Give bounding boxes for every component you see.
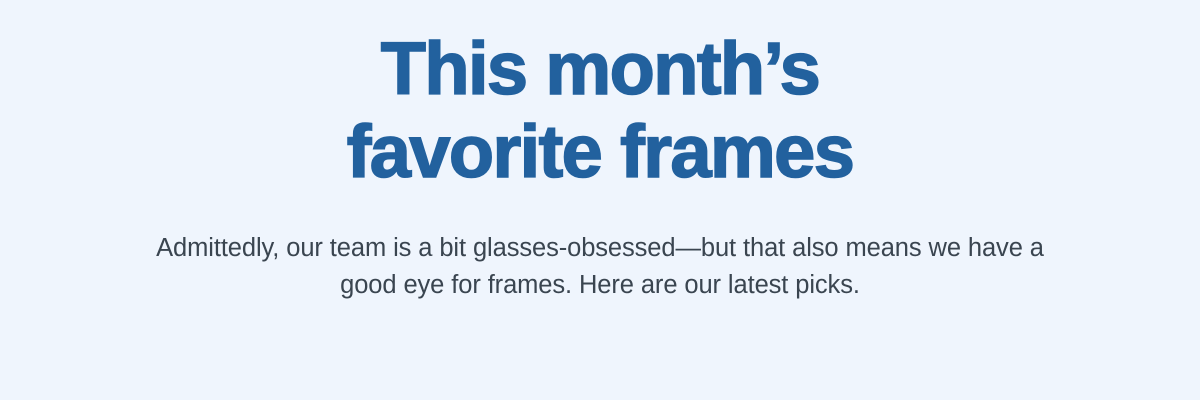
hero-banner: This month’s favorite frames Admittedly,… [0,0,1200,400]
page-title-line-2: favorite frames [347,111,854,194]
page-subtitle-text: Admittedly, our team is a bit glasses-ob… [156,234,1044,300]
page-title: This month’s favorite frames [347,28,854,194]
page-title-line-1: This month’s [347,28,854,111]
page-subtitle: Admittedly, our team is a bit glasses-ob… [138,230,1063,305]
